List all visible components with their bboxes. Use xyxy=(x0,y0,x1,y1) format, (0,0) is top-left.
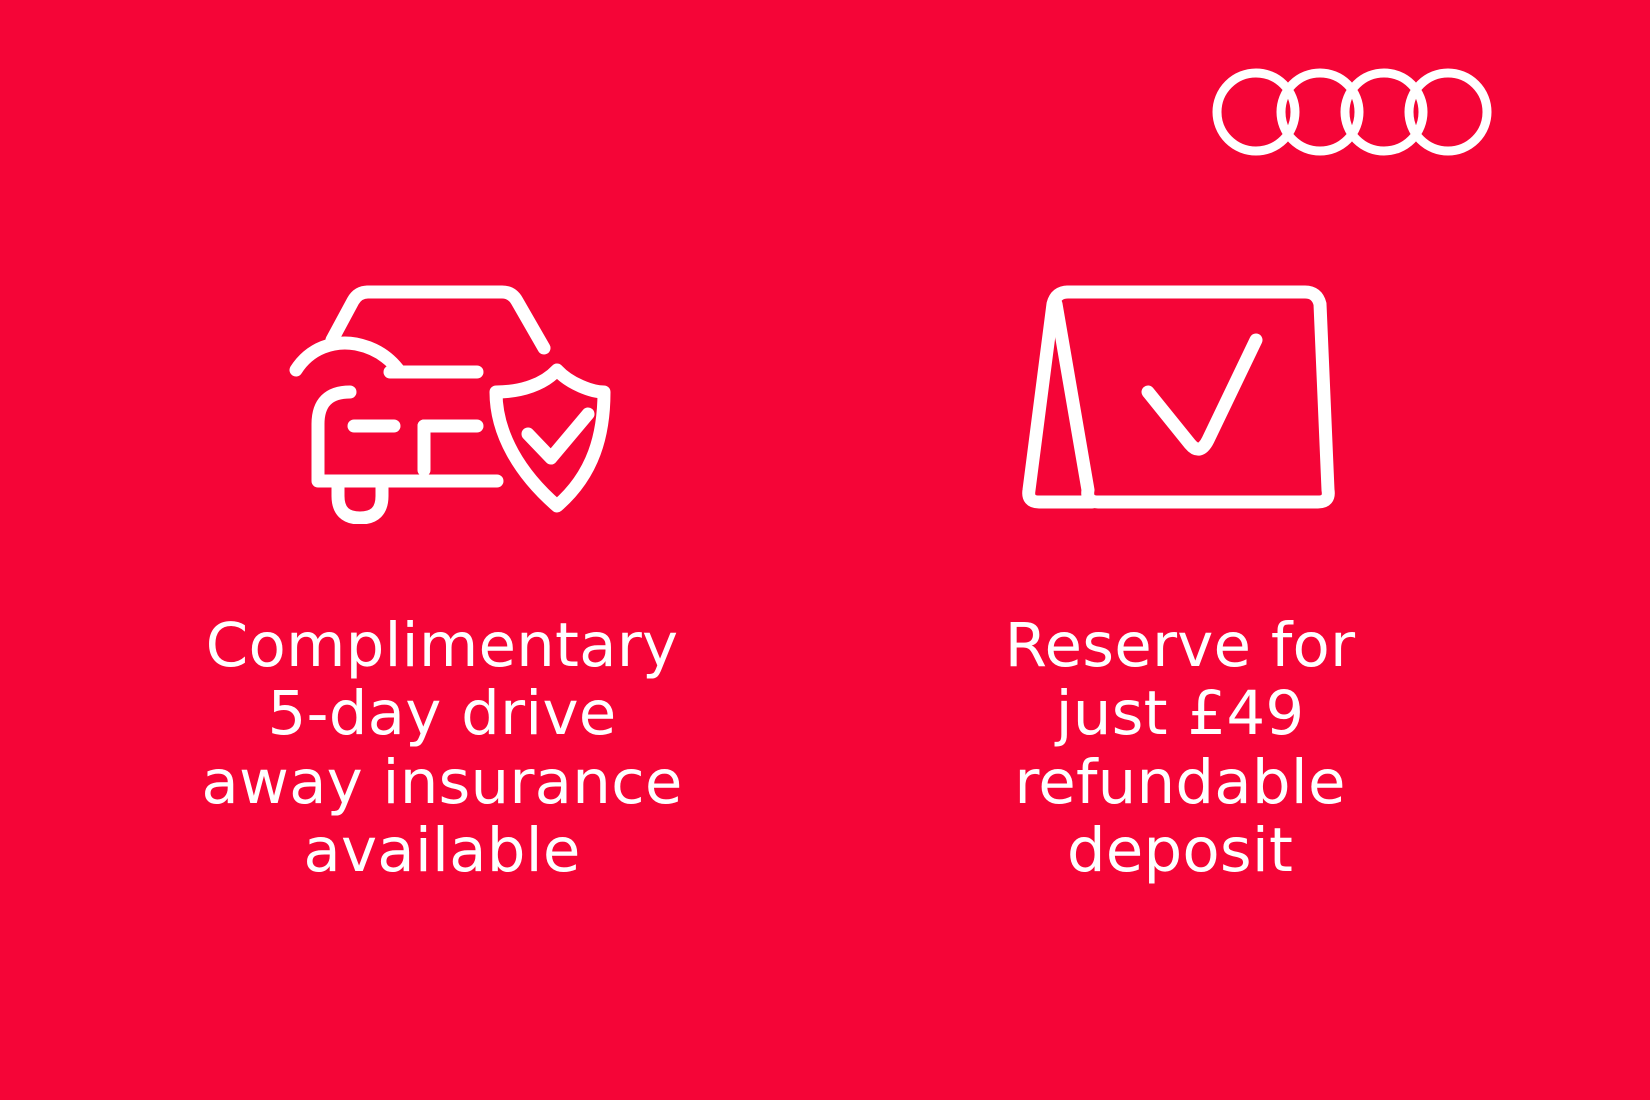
feature-item-insurance: Complimentary 5-day drive away insurance… xyxy=(112,268,772,885)
car-shield-insurance-icon xyxy=(272,268,612,530)
folded-card-checkmark-icon xyxy=(1020,268,1340,530)
feature-item-deposit: Reserve for just £49 refundable deposit xyxy=(880,268,1480,885)
promo-banner: Complimentary 5-day drive away insurance… xyxy=(0,0,1650,1100)
feature-label-deposit: Reserve for just £49 refundable deposit xyxy=(920,612,1440,885)
feature-list: Complimentary 5-day drive away insurance… xyxy=(0,0,1650,1100)
feature-label-insurance: Complimentary 5-day drive away insurance… xyxy=(132,612,752,885)
